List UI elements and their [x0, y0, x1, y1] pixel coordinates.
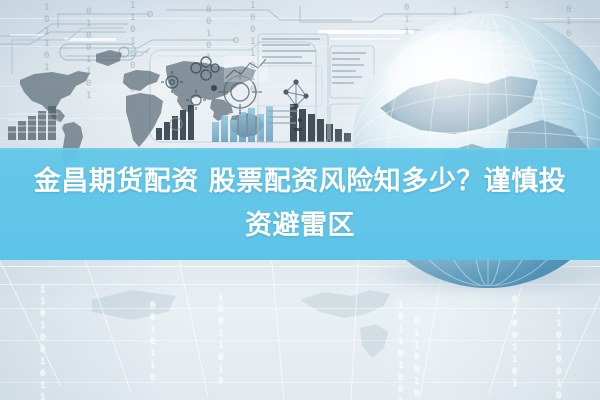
node-dot-icon	[211, 85, 217, 91]
page-title-text: 金昌期货配资 股票配资风险知多少？谨慎投资避雷区	[22, 160, 578, 248]
banner-image: 1 0 1 1 0 1 0 0 1 0 1 0 0 1 1 0 1 1 1 0 …	[0, 0, 600, 400]
descending-bar-chart	[290, 104, 351, 142]
stepped-bar-chart	[8, 106, 58, 140]
globe-highlight	[385, 29, 548, 145]
sparkline-panel	[224, 56, 268, 82]
page-title: 金昌期货配资 股票配资风险知多少？谨慎投资避雷区	[0, 148, 600, 260]
